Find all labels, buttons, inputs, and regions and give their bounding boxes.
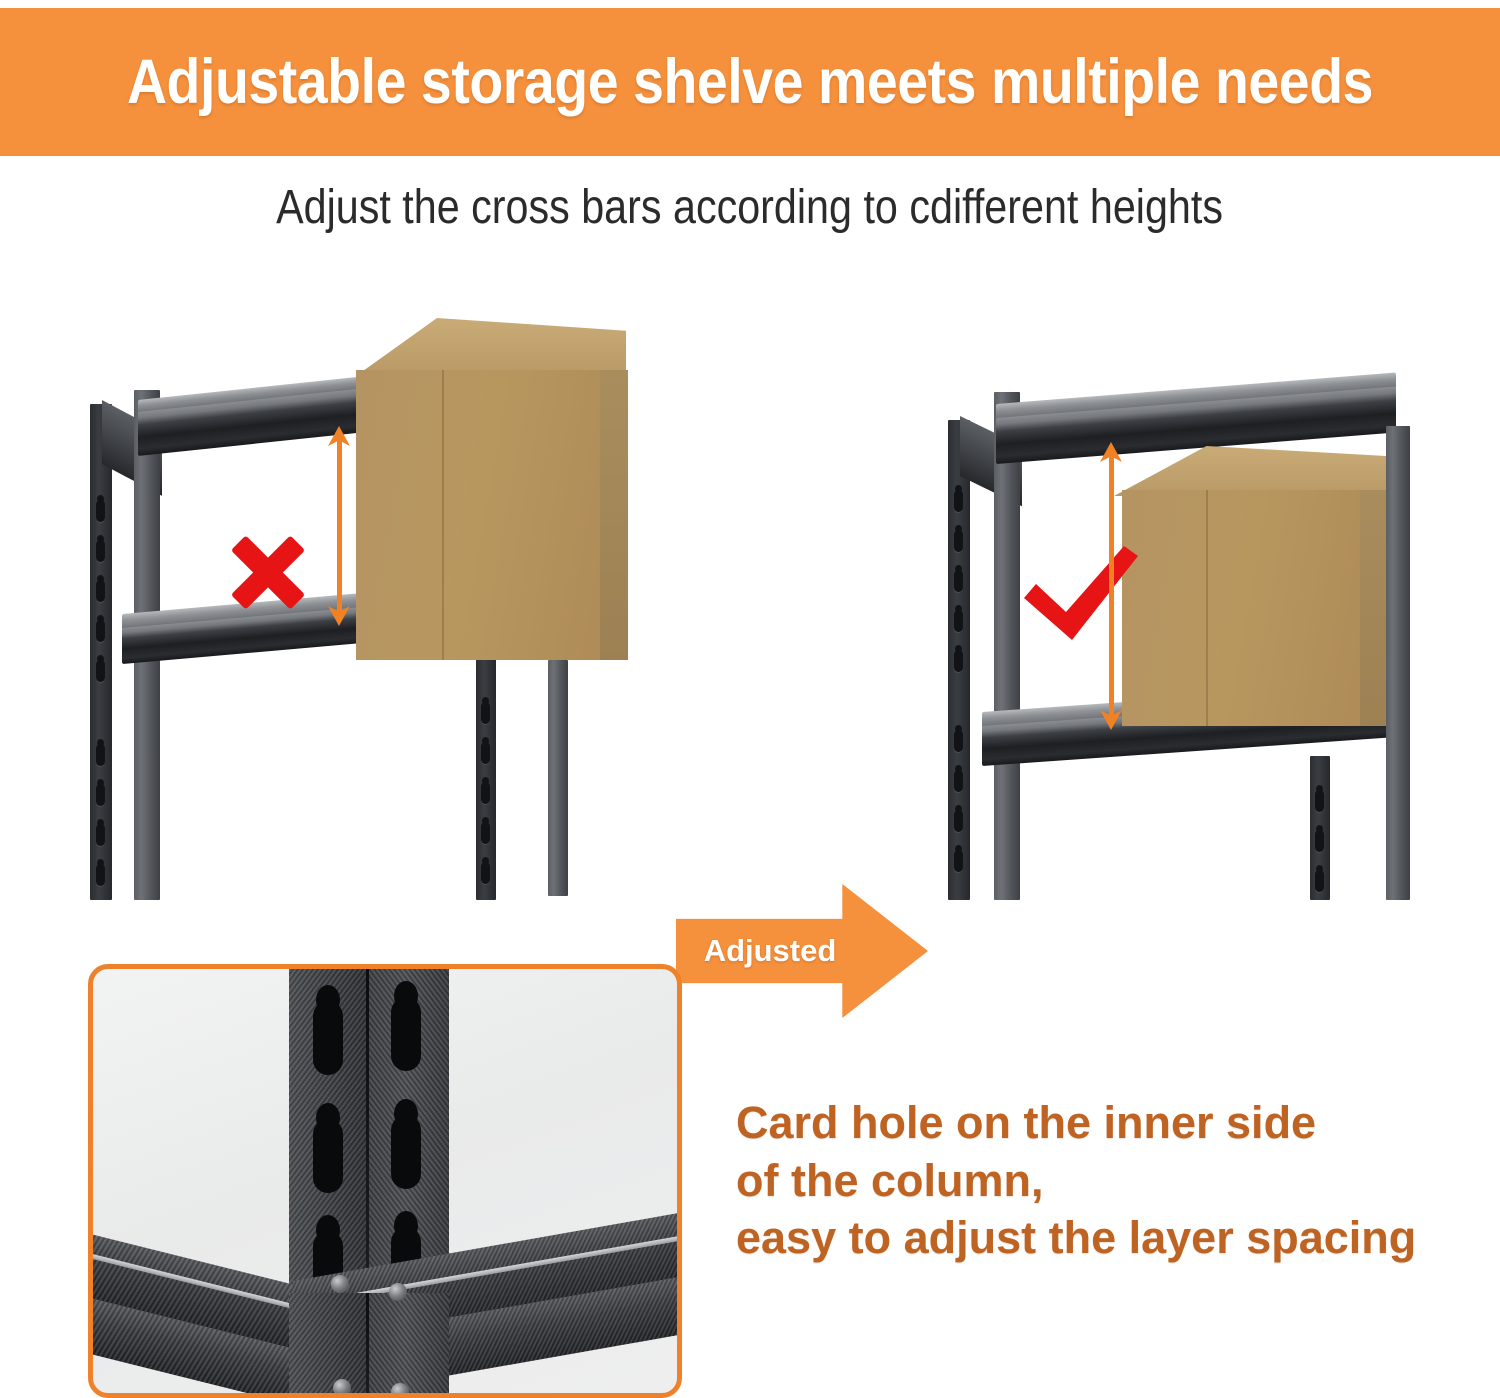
arrow-shaft [1109,456,1114,716]
caption-line-2: of the column, [736,1152,1456,1210]
column-face-left [289,964,367,1293]
comparison-section: Adjusted [0,360,1500,900]
before-shelf-illustration [78,360,678,900]
column-face-right [369,964,449,1293]
adjusted-label: Adjusted [690,933,850,969]
rack-post-back-left [90,404,112,900]
column-face-left-lower [289,1293,367,1398]
rack-post-back-right [476,652,496,900]
keyhole-slot [391,997,421,1071]
rack-post-back-left [948,420,970,900]
check-mark-icon [1022,540,1142,650]
keyhole-slot [313,1001,343,1075]
rack-post-back-right [1310,756,1330,900]
bolt-icon [389,1283,407,1301]
page-title: Adjustable storage shelve meets multiple… [127,46,1373,118]
gap-measure-arrow-before [326,426,352,626]
rack-post-front-left [994,392,1020,900]
after-shelf-illustration [930,360,1450,900]
infographic-page: Adjustable storage shelve meets multiple… [0,0,1500,1396]
adjusted-transition-arrow: Adjusted [676,884,928,1018]
column-closeup [289,964,449,1293]
cardboard-box-oversized [356,370,626,660]
cross-mark-icon [226,530,310,614]
keyhole-slot [391,1115,421,1189]
keyhole-slot [313,1119,343,1193]
bolt-icon [331,1275,349,1293]
subheader-text: Adjust the cross bars according to cdiff… [0,180,1500,235]
column-keyhole-photo [88,964,682,1398]
rack-post-front-right [548,660,568,896]
gap-measure-arrow-after [1098,442,1124,730]
detail-caption: Card hole on the inner side of the colum… [736,1094,1456,1267]
arrow-shaft [337,440,342,612]
subheader-label: Adjust the cross bars according to cdiff… [277,180,1224,235]
cardboard-box-fitting [1122,490,1386,726]
column-face-right-lower [369,1293,449,1398]
rack-post-front-right [1386,426,1410,900]
bolt-icon [333,1379,351,1397]
header-banner: Adjustable storage shelve meets multiple… [0,8,1500,156]
caption-line-3: easy to adjust the layer spacing [736,1209,1456,1267]
caption-line-1: Card hole on the inner side [736,1094,1456,1152]
